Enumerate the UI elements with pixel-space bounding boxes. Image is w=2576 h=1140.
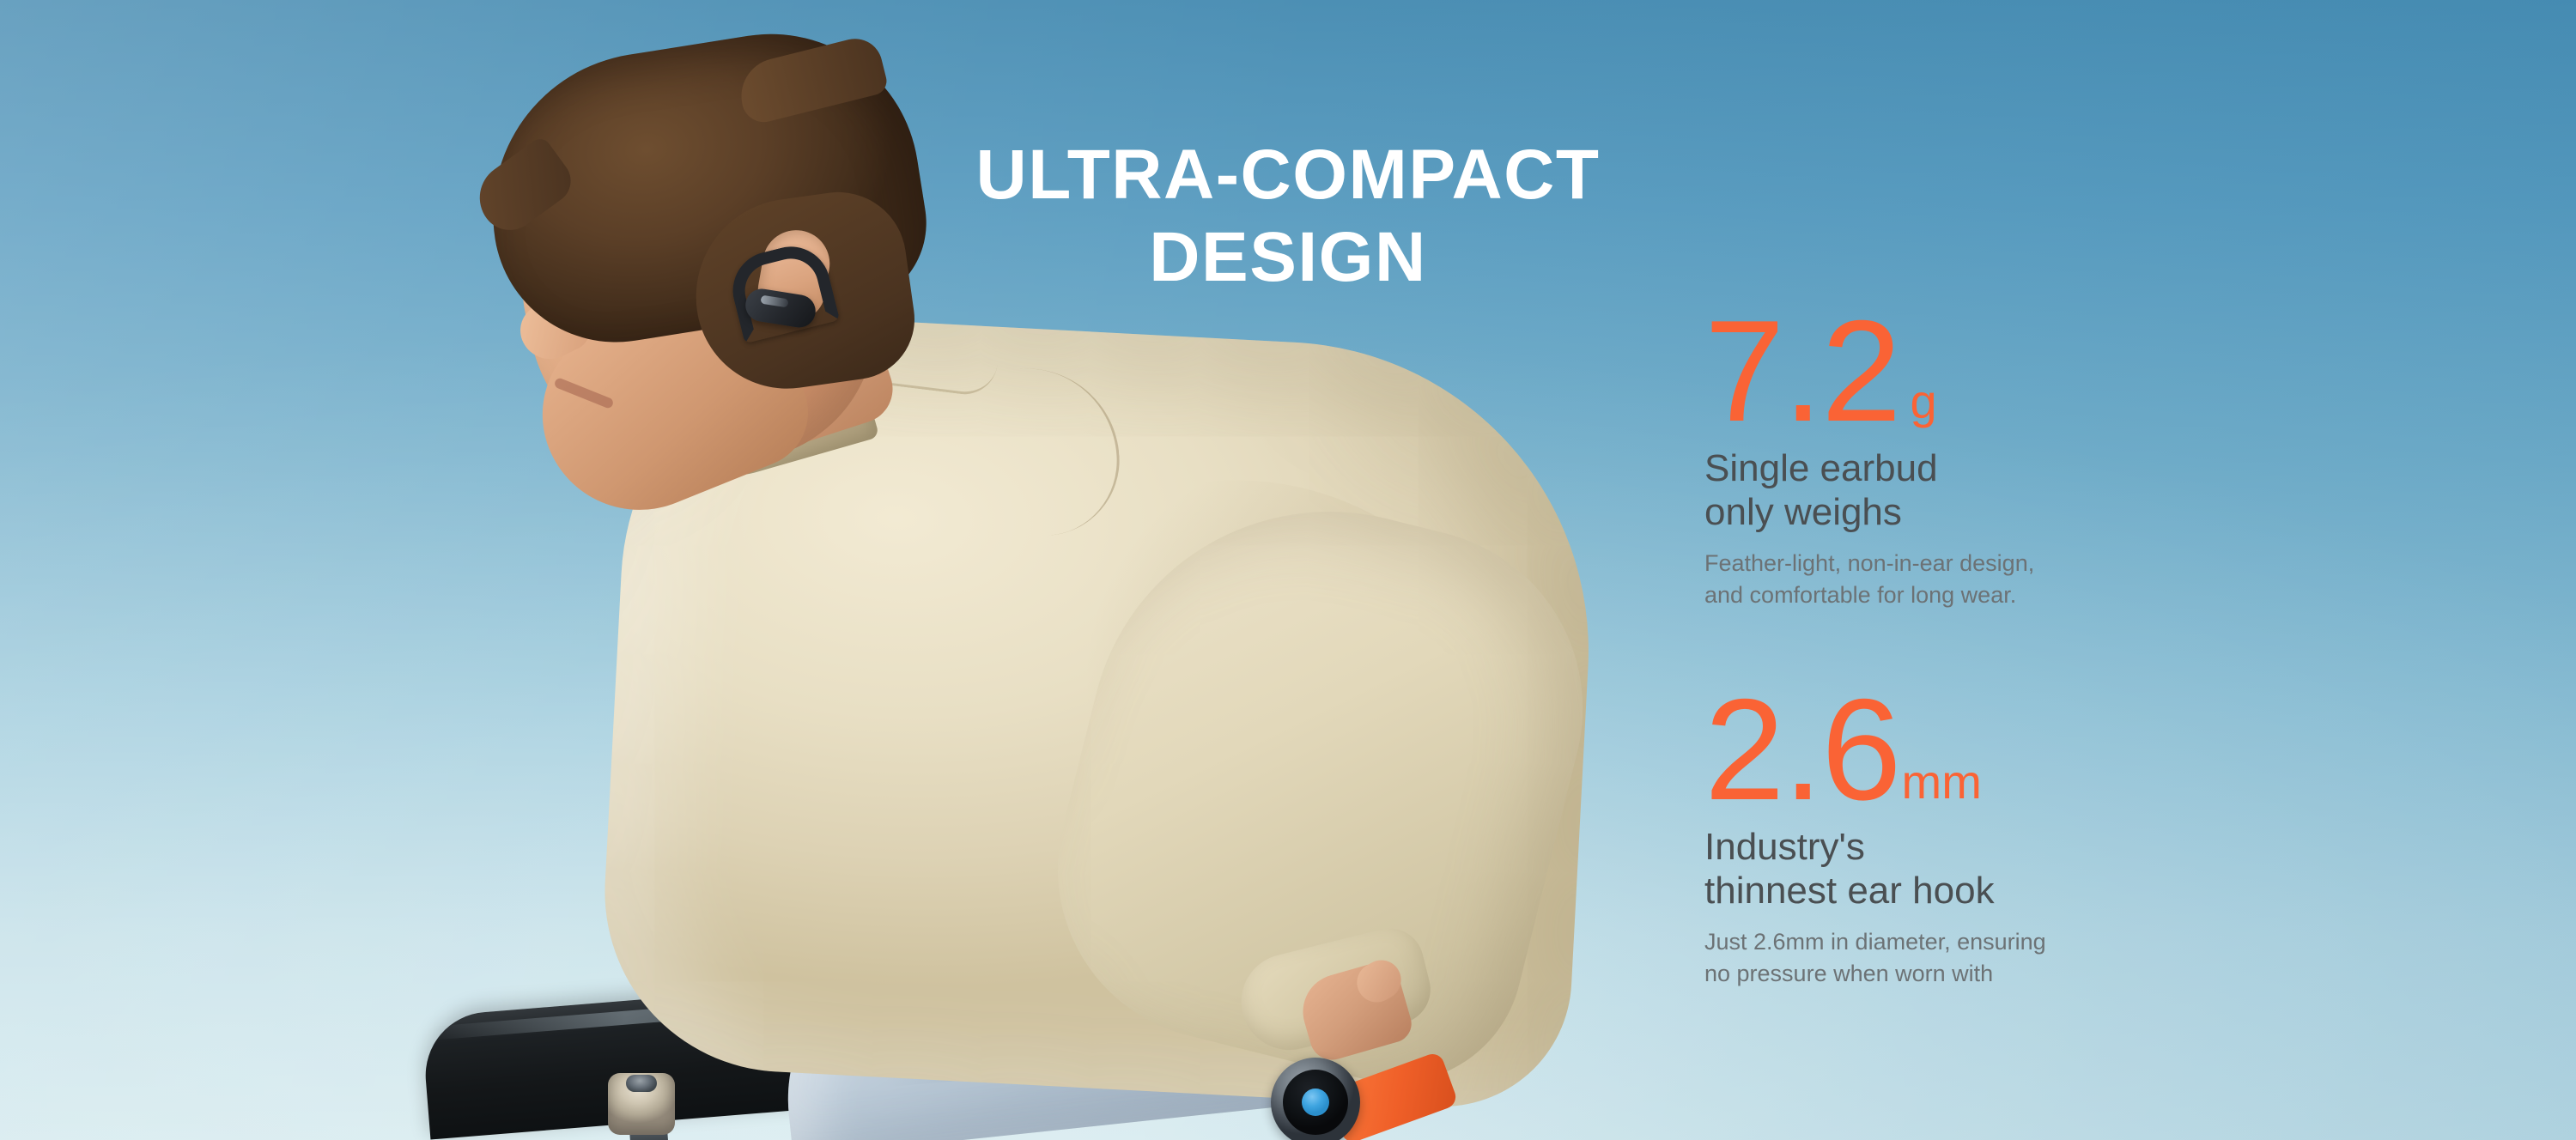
lifestyle-photo — [369, 0, 1589, 1140]
spec-weight-description: Feather-light, non-in-ear design, and co… — [1704, 548, 2460, 612]
spec-hook-desc-line-1: Just 2.6mm in diameter, ensuring — [1704, 929, 2046, 955]
spec-weight-title: Single earbud only weighs — [1704, 446, 2460, 534]
skateboard-wheel-bearing — [626, 1075, 657, 1092]
spec-hook-figure: 2.6 mm — [1704, 683, 2460, 816]
spec-hook-thickness: 2.6 mm Industry's thinnest ear hook Just… — [1704, 683, 2460, 990]
spec-hook-title-line-2: thinnest ear hook — [1704, 870, 1995, 912]
spec-highlights: 7.2 g Single earbud only weighs Feather-… — [1704, 305, 2460, 990]
spec-hook-unit: mm — [1900, 760, 1982, 816]
spec-weight-figure: 7.2 g — [1704, 305, 2460, 438]
spec-weight-desc-line-2: and comfortable for long wear. — [1704, 582, 2016, 608]
spec-weight: 7.2 g Single earbud only weighs Feather-… — [1704, 305, 2460, 611]
promo-banner: ULTRA-COMPACT DESIGN — [0, 0, 2576, 1140]
spec-hook-value: 2.6 — [1704, 683, 1900, 816]
spec-weight-unit: g — [1900, 379, 1937, 438]
spec-weight-title-line-1: Single earbud — [1704, 447, 1938, 489]
spec-hook-title: Industry's thinnest ear hook — [1704, 825, 2460, 913]
spec-weight-value: 7.2 — [1704, 305, 1900, 438]
spec-hook-title-line-1: Industry's — [1704, 826, 1865, 868]
smartwatch-app-icon — [1302, 1088, 1329, 1116]
spec-hook-description: Just 2.6mm in diameter, ensuring no pres… — [1704, 926, 2460, 991]
spec-weight-desc-line-1: Feather-light, non-in-ear design, — [1704, 550, 2034, 576]
spec-weight-title-line-2: only weighs — [1704, 491, 1902, 533]
spec-hook-desc-line-2: no pressure when worn with — [1704, 961, 1993, 986]
